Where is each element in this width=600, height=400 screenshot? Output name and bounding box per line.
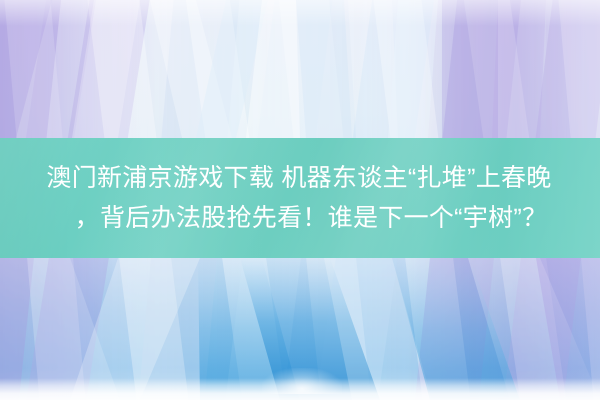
bottom-white-fade-strip — [0, 378, 600, 400]
background-top-highlight — [0, 0, 600, 26]
banner-text-block: 澳门新浦京游戏下载 机器东谈主“扎堆”上春晚 ，背后办法股抢先看！谁是下一个“宇… — [0, 138, 600, 258]
banner-image: 澳门新浦京游戏下载 机器东谈主“扎堆”上春晚 ，背后办法股抢先看！谁是下一个“宇… — [0, 0, 600, 400]
bottom-center-glow — [262, 368, 342, 394]
banner-headline-line-1: 澳门新浦京游戏下载 机器东谈主“扎堆”上春晚 — [46, 159, 551, 197]
banner-headline-line-2: ，背后办法股抢先看！谁是下一个“宇树”？ — [75, 199, 548, 237]
teal-banner-strip: 澳门新浦京游戏下载 机器东谈主“扎堆”上春晚 ，背后办法股抢先看！谁是下一个“宇… — [0, 138, 600, 258]
